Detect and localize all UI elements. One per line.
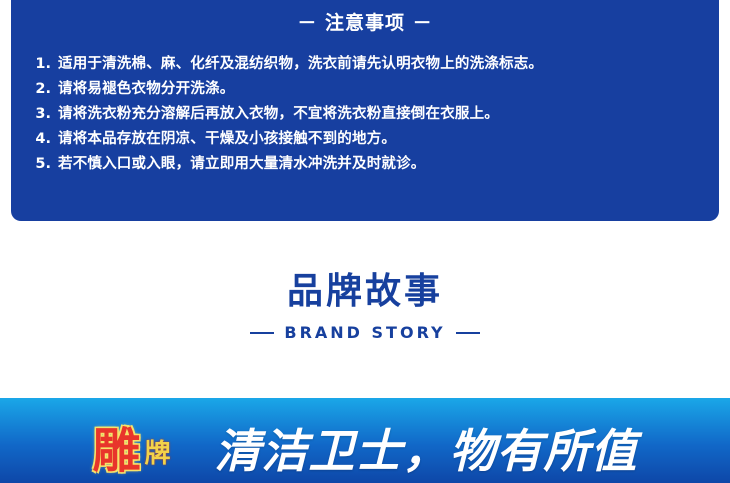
list-item: 3. 请将洗衣粉充分溶解后再放入衣物，不宜将洗衣粉直接倒在衣服上。: [31, 102, 701, 127]
list-item-number: 3.: [31, 102, 51, 127]
brand-logo: 雕 牌: [93, 419, 205, 481]
bottom-banner: 雕 牌 清洁卫士，物有所值: [0, 398, 730, 483]
notice-title: － 注意事项 －: [11, 8, 719, 35]
logo-main-character: 雕: [93, 425, 141, 477]
banner-content: 雕 牌 清洁卫士，物有所值: [0, 398, 730, 483]
brand-story-title-cn: 品牌故事: [0, 270, 730, 314]
brand-story-section: 品牌故事 BRAND STORY: [0, 270, 730, 342]
list-item-text: 若不慎入口或入眼，请立即用大量清水冲洗并及时就诊。: [58, 152, 701, 177]
divider-left: [250, 332, 274, 334]
list-item-text: 请将本品存放在阴凉、干燥及小孩接触不到的地方。: [58, 127, 701, 152]
list-item-number: 1.: [31, 52, 51, 77]
brand-story-subtitle-text: BRAND STORY: [284, 323, 445, 342]
list-item-text: 请将易褪色衣物分开洗涤。: [58, 77, 701, 102]
list-item-number: 2.: [31, 77, 51, 102]
list-item: 4. 请将本品存放在阴凉、干燥及小孩接触不到的地方。: [31, 127, 701, 152]
list-item-text: 请将洗衣粉充分溶解后再放入衣物，不宜将洗衣粉直接倒在衣服上。: [58, 102, 701, 127]
list-item: 2. 请将易褪色衣物分开洗涤。: [31, 77, 701, 102]
logo-sub-character: 牌: [145, 439, 171, 469]
notice-panel: － 注意事项 － 1. 适用于清洗棉、麻、化纤及混纺织物，洗衣前请先认明衣物上的…: [11, 0, 719, 221]
brand-story-subtitle-en: BRAND STORY: [0, 323, 730, 342]
list-item-number: 5.: [31, 152, 51, 177]
list-item-number: 4.: [31, 127, 51, 152]
list-item-text: 适用于清洗棉、麻、化纤及混纺织物，洗衣前请先认明衣物上的洗涤标志。: [58, 52, 701, 77]
list-item: 1. 适用于清洗棉、麻、化纤及混纺织物，洗衣前请先认明衣物上的洗涤标志。: [31, 52, 701, 77]
divider-right: [456, 332, 480, 334]
banner-slogan: 清洁卫士，物有所值: [215, 421, 638, 481]
notice-list: 1. 适用于清洗棉、麻、化纤及混纺织物，洗衣前请先认明衣物上的洗涤标志。 2. …: [31, 52, 701, 177]
list-item: 5. 若不慎入口或入眼，请立即用大量清水冲洗并及时就诊。: [31, 152, 701, 177]
